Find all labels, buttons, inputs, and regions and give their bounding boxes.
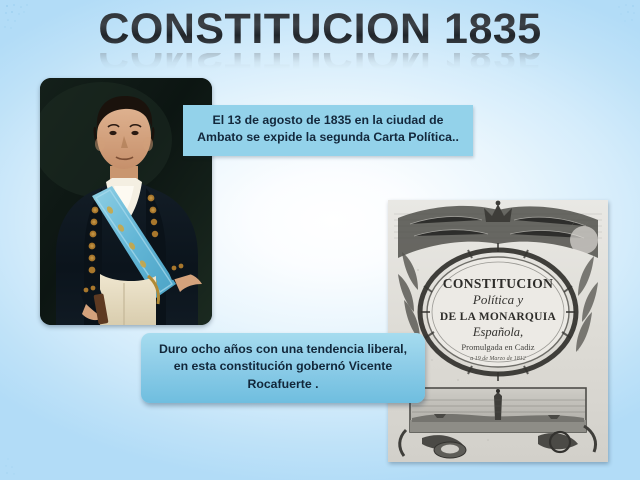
callout-top: El 13 de agosto de 1835 en la ciudad de … [183, 105, 473, 156]
constitucion-cadiz-engraving: CONSTITUCION Política y DE LA MONARQUIA … [388, 200, 608, 462]
slide-title-block: CONSTITUCION 1835 CONSTITUCION 1835 [0, 8, 640, 80]
engraved-line-1: CONSTITUCION [443, 276, 554, 291]
engraved-line-4: Española, [472, 325, 523, 339]
corner-dots-icon [584, 1, 638, 55]
page-title: CONSTITUCION 1835 [98, 8, 541, 52]
engraved-line-2: Política y [472, 292, 523, 307]
engraved-line-5: Promulgada en Cadiz [461, 342, 534, 352]
document-engraving-image: CONSTITUCION Política y DE LA MONARQUIA … [388, 200, 608, 462]
page-title-reflection: CONSTITUCION 1835 [98, 53, 541, 75]
corner-dots-icon [2, 1, 56, 55]
corner-dots-icon [2, 424, 56, 478]
engraved-line-3: DE LA MONARQUIA [440, 311, 557, 323]
slide-canvas: CONSTITUCION 1835 CONSTITUCION 1835 [0, 0, 640, 480]
callout-bottom: Duro ocho años con una tendencia liberal… [141, 333, 425, 403]
engraved-line-6: a 19 de Marzo de 1812 [470, 356, 526, 362]
